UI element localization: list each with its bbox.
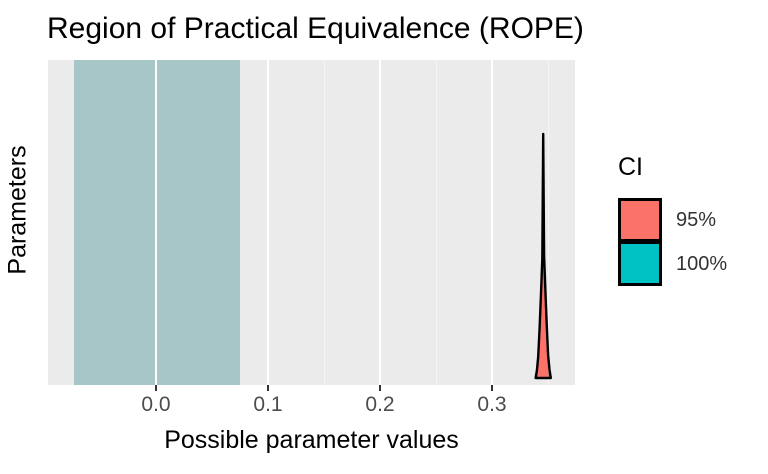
- x-tick-label-3: 0.3: [477, 392, 506, 418]
- page-title: Region of Practical Equivalence (ROPE): [47, 9, 747, 49]
- x-axis-ticks: [48, 385, 575, 392]
- legend-label-95: 95%: [676, 208, 716, 232]
- y-axis-title: Parameters: [2, 0, 34, 420]
- x-axis-tick-labels: 0.0 0.1 0.2 0.3: [48, 392, 575, 418]
- legend-swatch-95: [618, 198, 662, 242]
- legend-label-100: 100%: [676, 252, 727, 276]
- x-tick-2: [379, 385, 381, 391]
- chart-panel: [48, 60, 575, 385]
- x-tick-1: [267, 385, 269, 391]
- x-tick-label-1: 0.1: [253, 392, 282, 418]
- y-axis-title-label: Parameters: [3, 145, 33, 274]
- x-axis-title: Possible parameter values: [48, 424, 575, 456]
- x-tick-0: [155, 385, 157, 391]
- legend: CI 95% 100%: [612, 152, 762, 286]
- legend-title: CI: [618, 152, 762, 182]
- density-curve: [48, 60, 575, 385]
- x-tick-label-0: 0.0: [141, 392, 170, 418]
- legend-swatch-100: [618, 242, 662, 286]
- x-tick-3: [491, 385, 493, 391]
- legend-item-100[interactable]: 100%: [612, 242, 762, 286]
- x-tick-label-2: 0.2: [365, 392, 394, 418]
- legend-item-95[interactable]: 95%: [612, 198, 762, 242]
